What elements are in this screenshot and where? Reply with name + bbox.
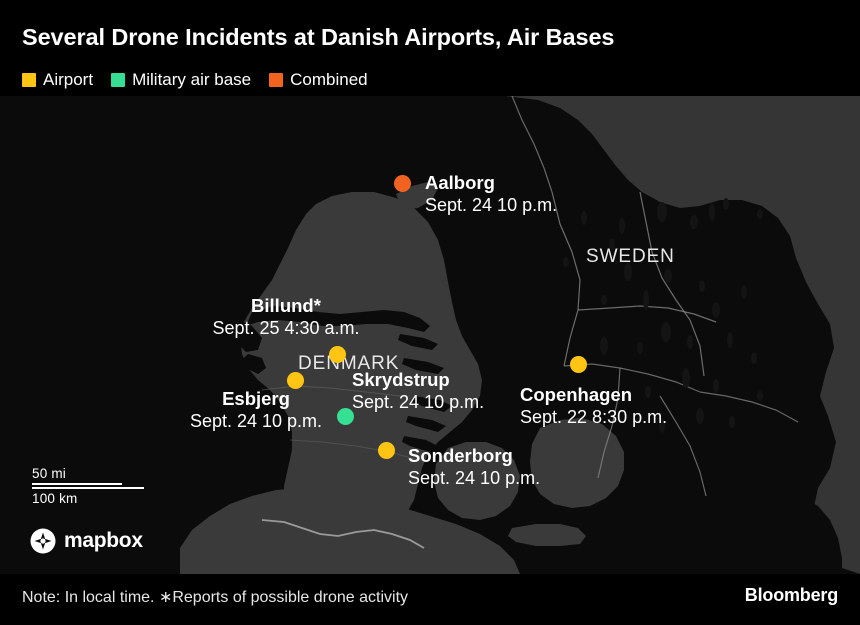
city-label-copenhagen: Copenhagen Sept. 22 8:30 p.m.: [520, 384, 667, 429]
city-time: Sept. 24 10 p.m.: [176, 411, 336, 433]
legend-label: Military air base: [132, 70, 251, 90]
legend-item-combined: Combined: [269, 70, 368, 90]
map-scale-bar: 50 mi 100 km: [32, 466, 144, 506]
city-time: Sept. 24 10 p.m.: [352, 392, 484, 414]
legend-item-airport: Airport: [22, 70, 93, 90]
city-label-aalborg: Aalborg Sept. 24 10 p.m.: [425, 172, 557, 217]
marker-copenhagen[interactable]: [570, 356, 587, 373]
bloomberg-logo: Bloomberg: [745, 585, 838, 606]
scale-line-km: [32, 487, 144, 489]
city-name: Copenhagen: [520, 384, 667, 407]
mapbox-attribution[interactable]: mapbox: [30, 528, 143, 554]
square-swatch-icon: [269, 73, 283, 87]
mapbox-wordmark: mapbox: [64, 529, 143, 553]
city-label-sonderborg: Sonderborg Sept. 24 10 p.m.: [408, 445, 540, 490]
marker-aalborg[interactable]: [394, 175, 411, 192]
chart-footer: Note: In local time. ∗Reports of possibl…: [0, 574, 860, 625]
scale-line-miles: [32, 483, 122, 485]
city-time: Sept. 24 10 p.m.: [408, 468, 540, 490]
square-swatch-icon: [111, 73, 125, 87]
marker-esbjerg[interactable]: [287, 372, 304, 389]
square-swatch-icon: [22, 73, 36, 87]
scale-km-label: 100 km: [32, 491, 144, 506]
city-name: Skrydstrup: [352, 369, 484, 392]
legend: Airport Military air base Combined: [22, 70, 368, 90]
city-label-billund: Billund* Sept. 25 4:30 a.m.: [186, 295, 386, 340]
city-label-esbjerg: Esbjerg Sept. 24 10 p.m.: [176, 388, 336, 433]
mapbox-mark-icon: [30, 528, 56, 554]
city-name: Sonderborg: [408, 445, 540, 468]
page-title: Several Drone Incidents at Danish Airpor…: [22, 24, 614, 51]
city-name: Billund*: [186, 295, 386, 318]
footnote: Note: In local time. ∗Reports of possibl…: [22, 587, 408, 607]
city-name: Aalborg: [425, 172, 557, 195]
map-canvas[interactable]: SWEDEN DENMARK Aalborg Sept. 24 10 p.m. …: [0, 96, 860, 574]
marker-billund[interactable]: [329, 346, 346, 363]
city-time: Sept. 22 8:30 p.m.: [520, 407, 667, 429]
legend-label: Combined: [290, 70, 368, 90]
city-time: Sept. 25 4:30 a.m.: [186, 318, 386, 340]
city-label-skrydstrup: Skrydstrup Sept. 24 10 p.m.: [352, 369, 484, 414]
country-label-sweden: SWEDEN: [586, 246, 675, 268]
marker-sonderborg[interactable]: [378, 442, 395, 459]
city-time: Sept. 24 10 p.m.: [425, 195, 557, 217]
chart-header: Several Drone Incidents at Danish Airpor…: [0, 0, 860, 96]
city-name: Esbjerg: [176, 388, 336, 411]
scale-miles-label: 50 mi: [32, 466, 144, 481]
legend-label: Airport: [43, 70, 93, 90]
legend-item-military-air-base: Military air base: [111, 70, 251, 90]
landmass-lolland: [508, 524, 586, 546]
